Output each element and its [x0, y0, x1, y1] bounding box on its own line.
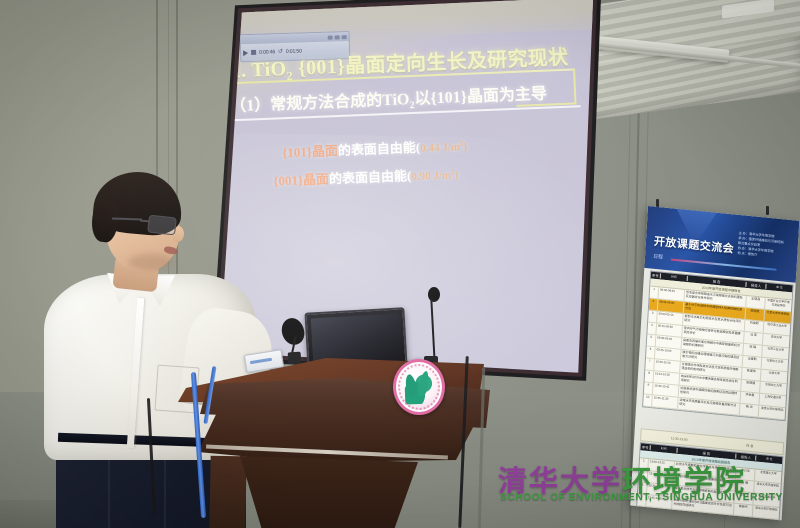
table-cell: 陈 曦: [735, 480, 755, 493]
program-banner: 开放课题交流会 主 办：清华大学环境学院 承 办：国家环境模拟与污染控制 联合重…: [630, 206, 799, 520]
schedule-table-1: 序号 时间 报 告 报告人 单 位 2013年度开放课题中期报告 108:30-…: [642, 270, 794, 421]
table-cell: 南京大学环境学院: [759, 406, 786, 420]
break-time: 11:30-13:00: [671, 436, 688, 442]
table-cell: 张晓健: [741, 380, 761, 393]
table-cell: 李兴华: [736, 468, 756, 481]
maximize-icon[interactable]: [335, 35, 340, 39]
table-cell: 10:45-11:30: [652, 395, 679, 409]
table-cell: 周雪飞: [735, 492, 755, 505]
banner-meta: 主 办：清华大学环境学院 承 办：国家环境模拟与污染控制 联合重点实验室 协 办…: [737, 231, 794, 261]
col-no: 序号: [651, 273, 661, 279]
minimize-icon[interactable]: [328, 35, 333, 39]
photo-scene: 0:00:46 ↺ 0:01:50 1. TiO2 {001}晶面定向生长及研究…: [0, 0, 800, 528]
col-no: 序号: [641, 444, 651, 450]
podium: [178, 352, 528, 528]
table-cell: 王爱勤: [743, 356, 763, 369]
table-cell: 张远航: [745, 308, 765, 321]
banner-title: 开放课题交流会: [653, 233, 734, 257]
table-cell: 蒋新宇: [734, 504, 754, 517]
trouser-fold: [108, 454, 110, 528]
banner-hook: [766, 206, 769, 215]
schedule-rows-1: 108:30-08:45低浓度水体氮磷废水污染物强化去除机理及反应器优化条件研究…: [643, 287, 792, 421]
table-cell: 刘俊新: [745, 320, 765, 333]
table-cell: 李金惠: [740, 392, 760, 405]
slide-title-main: 1. TiO: [230, 58, 286, 82]
table-cell: 陈爱侠: [742, 368, 762, 381]
slide-subtitle-pre: （1）常规方法合成的TiO: [230, 91, 410, 115]
banner-subtitle: 日程: [653, 253, 663, 261]
table-cell: 杨 洪: [740, 404, 760, 417]
table-cell: 马 军: [744, 332, 764, 345]
table-cell: 王晓昌: [746, 296, 766, 309]
table-cell: 13:45-14:00: [646, 495, 673, 509]
glasses-lens: [147, 215, 177, 236]
slide-subtitle-post: 以{101}晶面为主导: [414, 86, 547, 108]
podium-base: [228, 456, 430, 528]
trouser-fold: [164, 454, 166, 528]
chin-shadow: [128, 254, 174, 270]
media-player-titlebar: [241, 32, 349, 44]
table-cell: 清华大学环境学院: [753, 506, 780, 520]
close-icon[interactable]: [342, 35, 347, 39]
podium-leg: [209, 456, 246, 528]
banner-divider: [671, 258, 777, 270]
break-label: 休 息: [746, 443, 754, 449]
table-cell: 张 锡: [743, 344, 763, 357]
